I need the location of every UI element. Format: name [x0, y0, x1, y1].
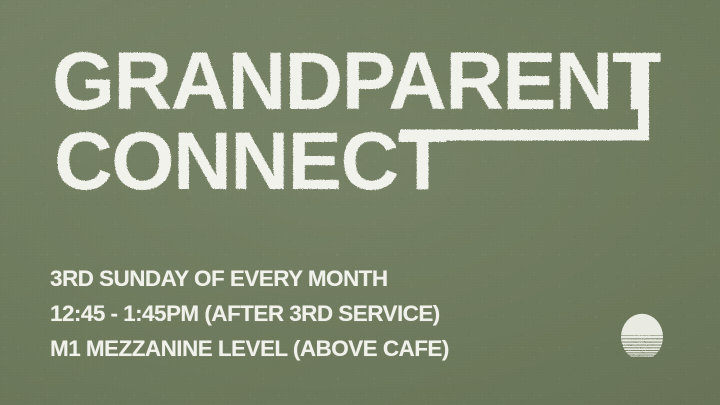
sun-stripe	[620, 353, 664, 354]
detail-line-time: 12:45 - 1:45PM (AFTER 3RD SERVICE)	[50, 296, 530, 331]
headline-line-2: CONNECT	[54, 116, 447, 207]
sun-stripe	[620, 351, 664, 353]
sun-stripe	[620, 356, 664, 357]
sun-stripe	[620, 346, 664, 348]
headline-block: GRANDPARENT CONNECT	[52, 34, 682, 204]
sunset-sun-icon	[620, 313, 664, 361]
detail-line-location: M1 MEZZANINE LEVEL (ABOVE CAFE)	[50, 331, 530, 366]
sun-stripe	[620, 336, 664, 339]
headline-line-1: GRANDPARENT	[52, 36, 661, 127]
announcement-slide: GRANDPARENT CONNECT 3RD SUNDAY OF EVERY …	[0, 0, 720, 405]
sun-solid-top	[620, 313, 664, 335]
sun-stripe	[620, 343, 664, 345]
sun-stripe	[620, 348, 664, 350]
sun-stripe	[620, 339, 664, 341]
event-details-block: 3RD SUNDAY OF EVERY MONTH 12:45 - 1:45PM…	[50, 261, 530, 366]
detail-line-schedule: 3RD SUNDAY OF EVERY MONTH	[50, 261, 530, 296]
